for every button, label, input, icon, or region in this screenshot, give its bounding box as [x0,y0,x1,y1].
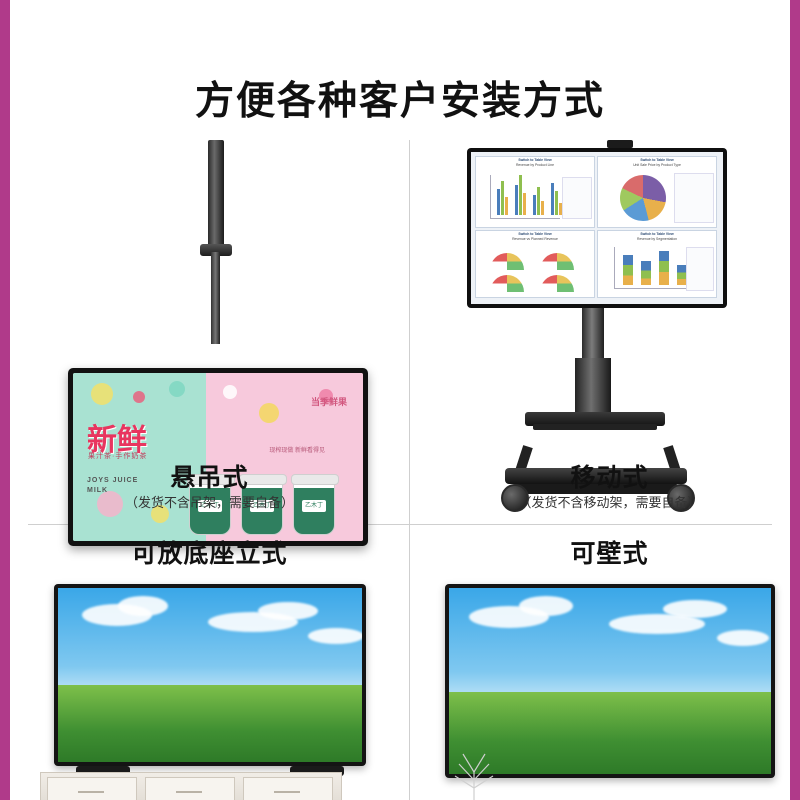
caption-wall-mount: 可壁式 [409,534,800,570]
quadrant-mobile-cart: Switch to Table View Revenue by Product … [409,140,800,524]
ceiling-pipe [208,140,224,250]
bar [533,195,536,215]
camera-bar [607,140,633,148]
poster-canvas: 方便各种客户安装方式 新鲜 果汁茶·手作奶茶 JOYS JUICE [0,0,800,800]
cloud [519,596,573,616]
panel-subtitle: Unit Sale Price by Product Type [598,163,716,167]
ad-right-text: 当季鲜果 [311,395,347,408]
ceiling-arm [211,252,220,344]
pie-chart [620,175,666,221]
panel-legend [562,177,592,219]
decor-blob-2 [133,391,145,403]
gauge-3 [490,275,524,292]
cloud [308,628,362,644]
decor-twig [429,746,519,800]
cabinet-handle [78,791,104,793]
dashboard-panel-stacked: Switch to Table View Revenue by Segmenta… [597,230,717,298]
stacked-bar [623,255,633,285]
display-table-stand [54,584,366,766]
bar [519,175,522,215]
bar [555,191,558,215]
note-mobile-cart: （发货不含移动架，需要自备） [409,492,800,511]
dashboard-panel-bar: Switch to Table View Revenue by Product … [475,156,595,228]
decor-blob-1 [91,383,113,405]
gauge-2 [540,253,574,270]
bar [497,189,500,215]
cart-lower-pole [575,358,611,420]
screen-dashboard: Switch to Table View Revenue by Product … [471,152,723,304]
caption-ceiling-mount: 悬吊式 [10,458,409,494]
panel-title: Switch to Table View [476,232,594,236]
panel-subtitle: Revenue by Product Line [476,163,594,167]
cloud [663,600,727,618]
caption-mobile-cart: 移动式 [409,458,800,494]
gauge-4 [540,275,574,292]
screen-nature-photo [58,588,362,762]
ad-right-subtext: 现榨现做 新鲜看得见 [269,445,325,454]
quadrant-ceiling-mount: 新鲜 果汁茶·手作奶茶 JOYS JUICE MILK 当季鲜果 现榨现做 新鲜… [10,140,409,524]
cloud [717,630,769,646]
bar [541,201,544,215]
dashboard-panel-gauges: Switch to Table View Revenue vs Planned … [475,230,595,298]
bar [501,181,504,215]
cabinet-drawer [145,777,235,800]
decor-blob-4 [223,385,237,399]
stacked-bar [641,261,651,285]
display-mobile: Switch to Table View Revenue by Product … [467,148,727,308]
panel-title: Switch to Table View [598,158,716,162]
bar [523,193,526,215]
note-ceiling-mount: （发货不含吊架，需要自备） [10,492,409,511]
cart-shelf-lip [533,424,657,430]
panel-subtitle: Revenue by Segmentation [598,237,716,241]
dashboard-panel-pie: Switch to Table View Unit Sale Price by … [597,156,717,228]
quadrant-wall-mount: 可壁式 [409,524,800,800]
gauge-1 [490,253,524,270]
stacked-bar [659,251,669,285]
panel-legend [686,247,714,291]
cabinet-drawer [47,777,137,800]
cloud [258,602,318,620]
display-ceiling: 新鲜 果汁茶·手作奶茶 JOYS JUICE MILK 当季鲜果 现榨现做 新鲜… [68,368,368,546]
tv-cabinet [40,772,342,800]
screen-advertisement: 新鲜 果汁茶·手作奶茶 JOYS JUICE MILK 当季鲜果 现榨现做 新鲜… [73,373,363,541]
bar [515,185,518,215]
decor-blob-5 [259,403,279,423]
panel-title: Switch to Table View [598,232,716,236]
bar [551,183,554,215]
bar [505,197,508,215]
frame-edge-left [0,0,10,800]
quadrant-table-stand: 可放底座立式 [10,524,409,800]
panel-title: Switch to Table View [476,158,594,162]
page-title: 方便各种客户安装方式 [10,70,790,126]
cabinet-handle [274,791,300,793]
panel-subtitle: Revenue vs Planned Revenue [476,237,594,241]
bar [537,187,540,215]
decor-blob-3 [169,381,185,397]
panel-legend [674,173,714,223]
cloud [118,596,168,616]
grass-field [58,685,362,762]
caption-table-stand: 可放底座立式 [10,534,409,570]
cabinet-handle [176,791,202,793]
cabinet-drawer [243,777,333,800]
frame-edge-right [790,0,800,800]
